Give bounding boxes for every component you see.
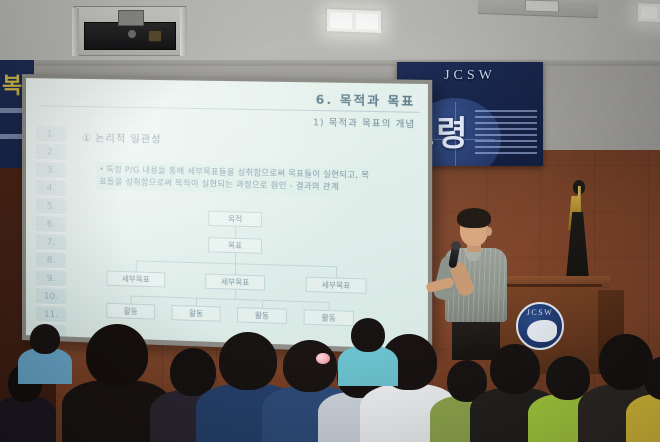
slide-body-paragraph: •특정 P/G 내용을 통해 세부목표들을 성취함으로써 목표들이 실현되고, … <box>96 162 375 197</box>
diagram-connector <box>136 260 137 271</box>
diagram-connector <box>235 290 236 299</box>
diagram-node: 활동 <box>171 305 220 322</box>
projection-screen: 6. 목적과 목표 1) 목적과 목표의 개념 1.2.3.4.5.6.7.8.… <box>26 78 428 349</box>
diagram-node: 목표 <box>208 237 262 254</box>
diagram-connector <box>235 253 236 263</box>
audience-torso <box>626 394 660 442</box>
slide-sidebar-number: 2. <box>36 144 66 161</box>
slide-paragraph-text: 특정 P/G 내용을 통해 세부목표들을 성취함으로써 목표들이 실현되고, 목… <box>99 165 369 192</box>
diagram-node: 세부목표 <box>205 274 265 291</box>
audience-head <box>644 356 660 400</box>
audience-head <box>30 324 60 354</box>
ceiling-light-icon <box>636 1 660 25</box>
slide-heading: ①논리적 일관성 <box>82 129 161 146</box>
diagram-connector <box>336 266 337 277</box>
slide-sidebar-number: 9. <box>36 270 66 287</box>
presenter-hair <box>457 208 491 228</box>
diagram-node: 세부목표 <box>306 277 367 294</box>
slide-sidebar-number: 5. <box>36 198 66 215</box>
presenter-ear <box>486 227 492 236</box>
slide-title-bar: 6. 목적과 목표 <box>40 86 419 113</box>
slide-sidebar-number: 8. <box>36 252 66 269</box>
ceiling-vent-grille <box>525 0 559 13</box>
audience-member <box>626 350 660 442</box>
slide-sidebar-number: 10. <box>36 288 66 305</box>
slide-sidebar-number: 1. <box>36 126 66 143</box>
slide-sidebar-number: 3. <box>36 162 66 179</box>
audience-member <box>18 318 72 384</box>
audience-torso <box>0 396 56 442</box>
slide-sidebar-numbers: 1.2.3.4.5.6.7.8.9.10.11.12. <box>36 126 66 326</box>
diagram-node: 세부목표 <box>106 271 165 288</box>
circled-number-icon: ① <box>82 133 92 144</box>
slide-heading-text: 논리적 일관성 <box>95 133 161 145</box>
projector-lens-icon <box>148 30 162 42</box>
diagram-connector <box>235 263 236 274</box>
diagram-connector <box>196 298 197 306</box>
audience-member <box>338 312 398 386</box>
hierarchy-diagram: 목적목표세부목표세부목표세부목표활동활동활동활동 <box>82 208 392 329</box>
lecture-hall-scene: 복 JCSW 요령 6. 목적과 목표 1) 목적과 목표의 개념 1.2.3.… <box>0 0 660 442</box>
presentation-slide: 6. 목적과 목표 1) 목적과 목표의 개념 1.2.3.4.5.6.7.8.… <box>26 78 428 349</box>
diagram-node: 활동 <box>237 307 287 324</box>
slide-title: 6. 목적과 목표 <box>40 86 419 110</box>
left-banner-text: 복 <box>2 68 22 100</box>
bullet-icon: • <box>99 165 104 174</box>
diagram-connector <box>131 296 132 304</box>
slide-sidebar-number: 6. <box>36 216 66 233</box>
slide-sidebar-number: 7. <box>36 234 66 251</box>
diagram-connector <box>131 296 329 303</box>
audience-torso <box>338 346 398 386</box>
ceiling-light-icon <box>325 7 383 35</box>
audience-head <box>351 318 385 352</box>
audience-head <box>86 324 148 386</box>
diagram-connector <box>329 302 330 310</box>
slide-subtitle: 1) 목적과 목표의 개념 <box>313 115 415 130</box>
diagram-node: 목적 <box>208 211 262 228</box>
slide-sidebar-number: 4. <box>36 180 66 197</box>
diagram-connector <box>262 300 263 308</box>
diagram-connector <box>235 227 236 238</box>
